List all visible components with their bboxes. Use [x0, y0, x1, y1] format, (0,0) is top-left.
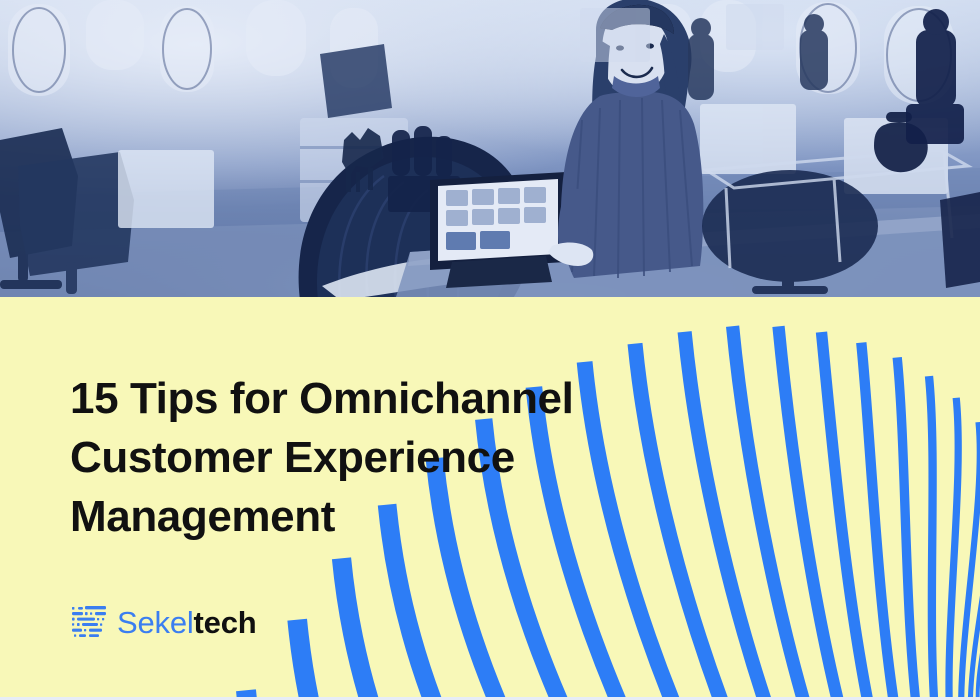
hero-photo-illustration: [0, 0, 980, 297]
page-title: 15 Tips for Omnichannel Customer Experie…: [70, 369, 670, 546]
sekeltech-logo[interactable]: Sekeltech: [70, 605, 257, 639]
title-line-3: Management: [70, 487, 670, 546]
title-line-2: Customer Experience: [70, 428, 670, 487]
logo-word-primary: Sekel: [117, 605, 194, 640]
logo-word-secondary: tech: [194, 605, 257, 640]
cover-canvas: 15 Tips for Omnichannel Customer Experie…: [0, 0, 980, 700]
hero-photo: [0, 0, 980, 297]
logo-wordmark: Sekeltech: [117, 607, 257, 638]
sekeltech-logo-mark-icon: [70, 605, 108, 639]
content-panel: 15 Tips for Omnichannel Customer Experie…: [0, 297, 980, 697]
title-line-1: 15 Tips for Omnichannel: [70, 369, 670, 428]
